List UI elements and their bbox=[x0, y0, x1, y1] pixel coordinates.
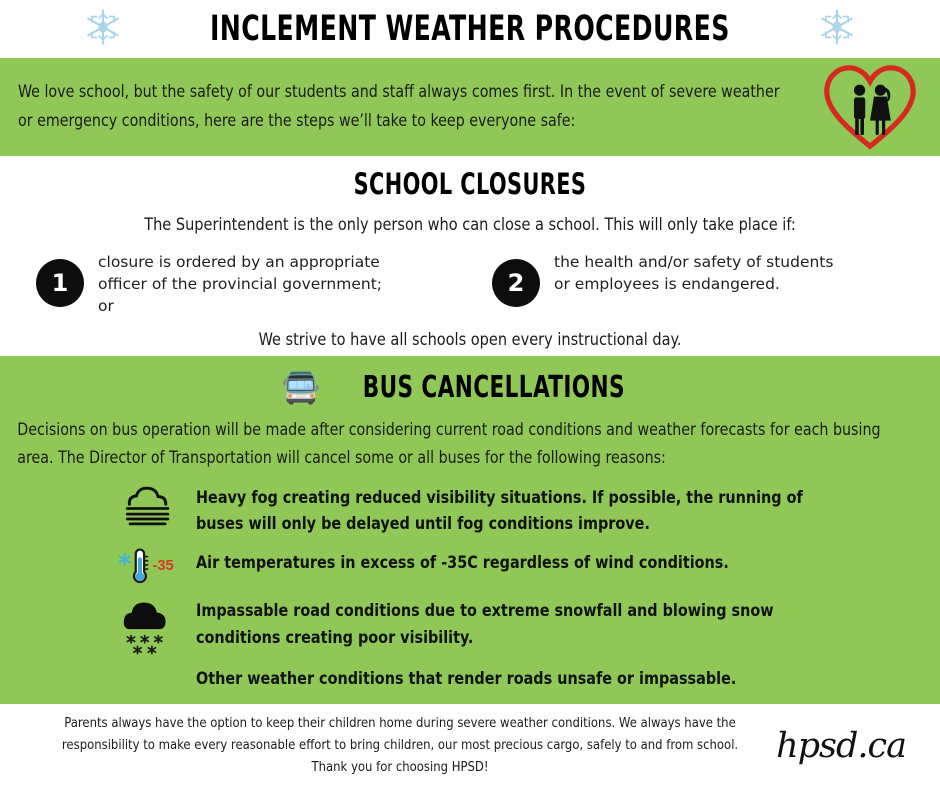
intro-text: We love school, but the safety of our st… bbox=[18, 78, 786, 136]
section-heading-closures: SCHOOL CLOSURES bbox=[94, 168, 846, 201]
snowflake-icon bbox=[817, 7, 857, 52]
closures-lead-text: The Superintendent is the only person wh… bbox=[24, 215, 917, 235]
school-bus-icon: 🚍 bbox=[282, 372, 321, 403]
fog-icon bbox=[118, 483, 180, 527]
intro-band: We love school, but the safety of our st… bbox=[0, 58, 940, 156]
number-badge: 1 bbox=[36, 259, 84, 307]
list-item-label: Other weather conditions that render roa… bbox=[196, 664, 736, 693]
list-item-label: Air temperatures in excess of -35C regar… bbox=[196, 548, 729, 577]
closures-footnote: We strive to have all schools open every… bbox=[24, 330, 917, 350]
list-item: Impassable road conditions due to extrem… bbox=[0, 596, 940, 658]
page-title: INCLEMENT WEATHER PROCEDURES bbox=[210, 12, 730, 47]
bus-heading-row: 🚍 BUS CANCELLATIONS bbox=[0, 364, 940, 410]
thermometer-cold-icon: -35 bbox=[118, 548, 180, 586]
thermometer-value: -35 bbox=[152, 558, 173, 574]
hpsd-logo[interactable]: hpsd.ca bbox=[776, 726, 922, 766]
footer-text: Parents always have the option to keep t… bbox=[45, 713, 755, 779]
bus-cancellations-section: 🚍 BUS CANCELLATIONS Decisions on bus ope… bbox=[0, 356, 940, 704]
list-item: -35 Air temperatures in excess of -35C r… bbox=[0, 548, 940, 586]
number-badge: 2 bbox=[492, 259, 540, 307]
list-item-label: closure is ordered by an appropriate off… bbox=[98, 251, 398, 317]
snow-cloud-icon bbox=[118, 596, 180, 658]
infographic-poster: INCLEMENT WEATHER PROCEDURES bbox=[0, 0, 940, 788]
title-bar: INCLEMENT WEATHER PROCEDURES bbox=[0, 0, 940, 58]
list-item: 2 the health and/or safety of students o… bbox=[470, 251, 926, 317]
list-item: Other weather conditions that render roa… bbox=[0, 664, 940, 693]
closures-conditions-list: 1 closure is ordered by an appropriate o… bbox=[0, 251, 940, 317]
snowflake-icon bbox=[83, 7, 123, 52]
list-item-label: Heavy fog creating reduced visibility si… bbox=[196, 483, 836, 538]
list-item-label: the health and/or safety of students or … bbox=[554, 251, 854, 295]
school-closures-section: SCHOOL CLOSURES The Superintendent is th… bbox=[0, 156, 940, 356]
bus-paragraph: Decisions on bus operation will be made … bbox=[0, 410, 902, 473]
list-item-label: Impassable road conditions due to extrem… bbox=[196, 596, 836, 651]
list-item: Heavy fog creating reduced visibility si… bbox=[0, 483, 940, 538]
list-item: 1 closure is ordered by an appropriate o… bbox=[14, 251, 470, 317]
heart-with-children-icon bbox=[818, 63, 922, 151]
section-heading-bus: BUS CANCELLATIONS bbox=[363, 370, 625, 405]
footer: Parents always have the option to keep t… bbox=[0, 704, 940, 788]
